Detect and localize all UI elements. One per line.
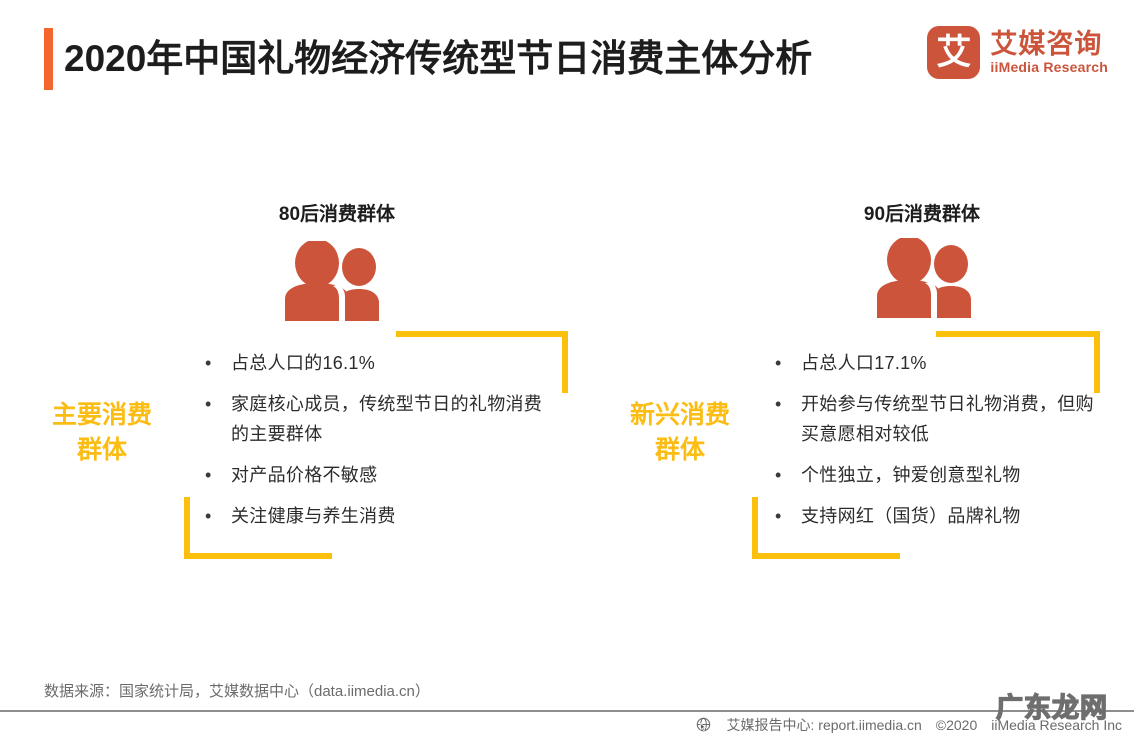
list-item: • 对产品价格不敏感 xyxy=(205,460,545,490)
bullet-text: 支持网红（国货）品牌礼物 xyxy=(801,501,1021,531)
list-item: • 占总人口的16.1% xyxy=(205,348,545,378)
bullet-dot-icon: • xyxy=(205,389,231,419)
list-item: • 支持网红（国货）品牌礼物 xyxy=(775,501,1105,531)
bracket-bottom-right-horizontal xyxy=(752,553,900,559)
bracket-top-left-horizontal xyxy=(396,331,568,337)
two-people-icon xyxy=(277,241,395,326)
data-source-note: 数据来源：国家统计局，艾媒数据中心（data.iimedia.cn） xyxy=(44,680,430,701)
bullet-dot-icon: • xyxy=(775,501,801,531)
group-title-post80: 80后消费群体 xyxy=(237,199,437,226)
bullet-dot-icon: • xyxy=(205,460,231,490)
bracket-bottom-left-horizontal xyxy=(184,553,332,559)
list-item: • 个性独立，钟爱创意型礼物 xyxy=(775,460,1105,490)
group-title-post90: 90后消费群体 xyxy=(822,199,1022,226)
logo-name-cn: 艾媒咨询 xyxy=(990,29,1108,59)
iimedia-logo: 艾 艾媒咨询 iiMedia Research xyxy=(927,26,1108,79)
title-accent-bar xyxy=(44,28,53,90)
bracket-bottom-left-vertical xyxy=(184,497,190,559)
logo-text: 艾媒咨询 iiMedia Research xyxy=(990,29,1108,76)
bullet-text: 占总人口17.1% xyxy=(801,348,927,378)
globe-icon xyxy=(696,717,711,732)
list-item: • 开始参与传统型节日礼物消费，但购买意愿相对较低 xyxy=(775,389,1105,449)
report-center-link[interactable]: 艾媒报告中心: report.iimedia.cn xyxy=(727,715,922,735)
copyright-text: ©2020 xyxy=(936,717,977,733)
bullet-text: 个性独立，钟爱创意型礼物 xyxy=(801,460,1021,490)
category-label-primary: 主要消费 群体 xyxy=(22,398,182,467)
bullet-dot-icon: • xyxy=(775,348,801,378)
bracket-top-left-vertical xyxy=(562,331,568,393)
category-label-emerging: 新兴消费 群体 xyxy=(600,398,760,467)
bullet-text: 家庭核心成员，传统型节日的礼物消费的主要群体 xyxy=(231,389,545,449)
page-title: 2020年中国礼物经济传统型节日消费主体分析 xyxy=(64,28,812,90)
logo-name-en: iiMedia Research xyxy=(990,59,1108,76)
category-label-primary-line2: 群体 xyxy=(22,433,182,468)
category-label-emerging-line1: 新兴消费 xyxy=(600,398,760,433)
category-label-primary-line1: 主要消费 xyxy=(22,398,182,433)
list-item: • 家庭核心成员，传统型节日的礼物消费的主要群体 xyxy=(205,389,545,449)
bullet-text: 对产品价格不敏感 xyxy=(231,460,377,490)
footer-bar: 艾媒报告中心: report.iimedia.cn ©2020 iiMedia … xyxy=(0,712,1134,737)
bullet-text: 关注健康与养生消费 xyxy=(231,501,396,531)
two-people-icon xyxy=(869,238,987,323)
bullet-dot-icon: • xyxy=(775,460,801,490)
logo-mark-icon: 艾 xyxy=(927,26,980,79)
bullet-dot-icon: • xyxy=(205,348,231,378)
bracket-bottom-right-vertical xyxy=(752,497,758,559)
bullet-text: 占总人口的16.1% xyxy=(231,348,375,378)
category-label-emerging-line2: 群体 xyxy=(600,433,760,468)
bracket-top-right-horizontal xyxy=(936,331,1100,337)
list-item: • 占总人口17.1% xyxy=(775,348,1105,378)
bullet-dot-icon: • xyxy=(205,501,231,531)
bullet-list-post90: • 占总人口17.1% • 开始参与传统型节日礼物消费，但购买意愿相对较低 • … xyxy=(775,348,1105,542)
company-name: iiMedia Research Inc xyxy=(991,717,1122,733)
bullet-text: 开始参与传统型节日礼物消费，但购买意愿相对较低 xyxy=(801,389,1105,449)
list-item: • 关注健康与养生消费 xyxy=(205,501,545,531)
infographic-page: 2020年中国礼物经济传统型节日消费主体分析 艾 艾媒咨询 iiMedia Re… xyxy=(0,0,1134,737)
bullet-dot-icon: • xyxy=(775,389,801,419)
bullet-list-post80: • 占总人口的16.1% • 家庭核心成员，传统型节日的礼物消费的主要群体 • … xyxy=(205,348,545,542)
